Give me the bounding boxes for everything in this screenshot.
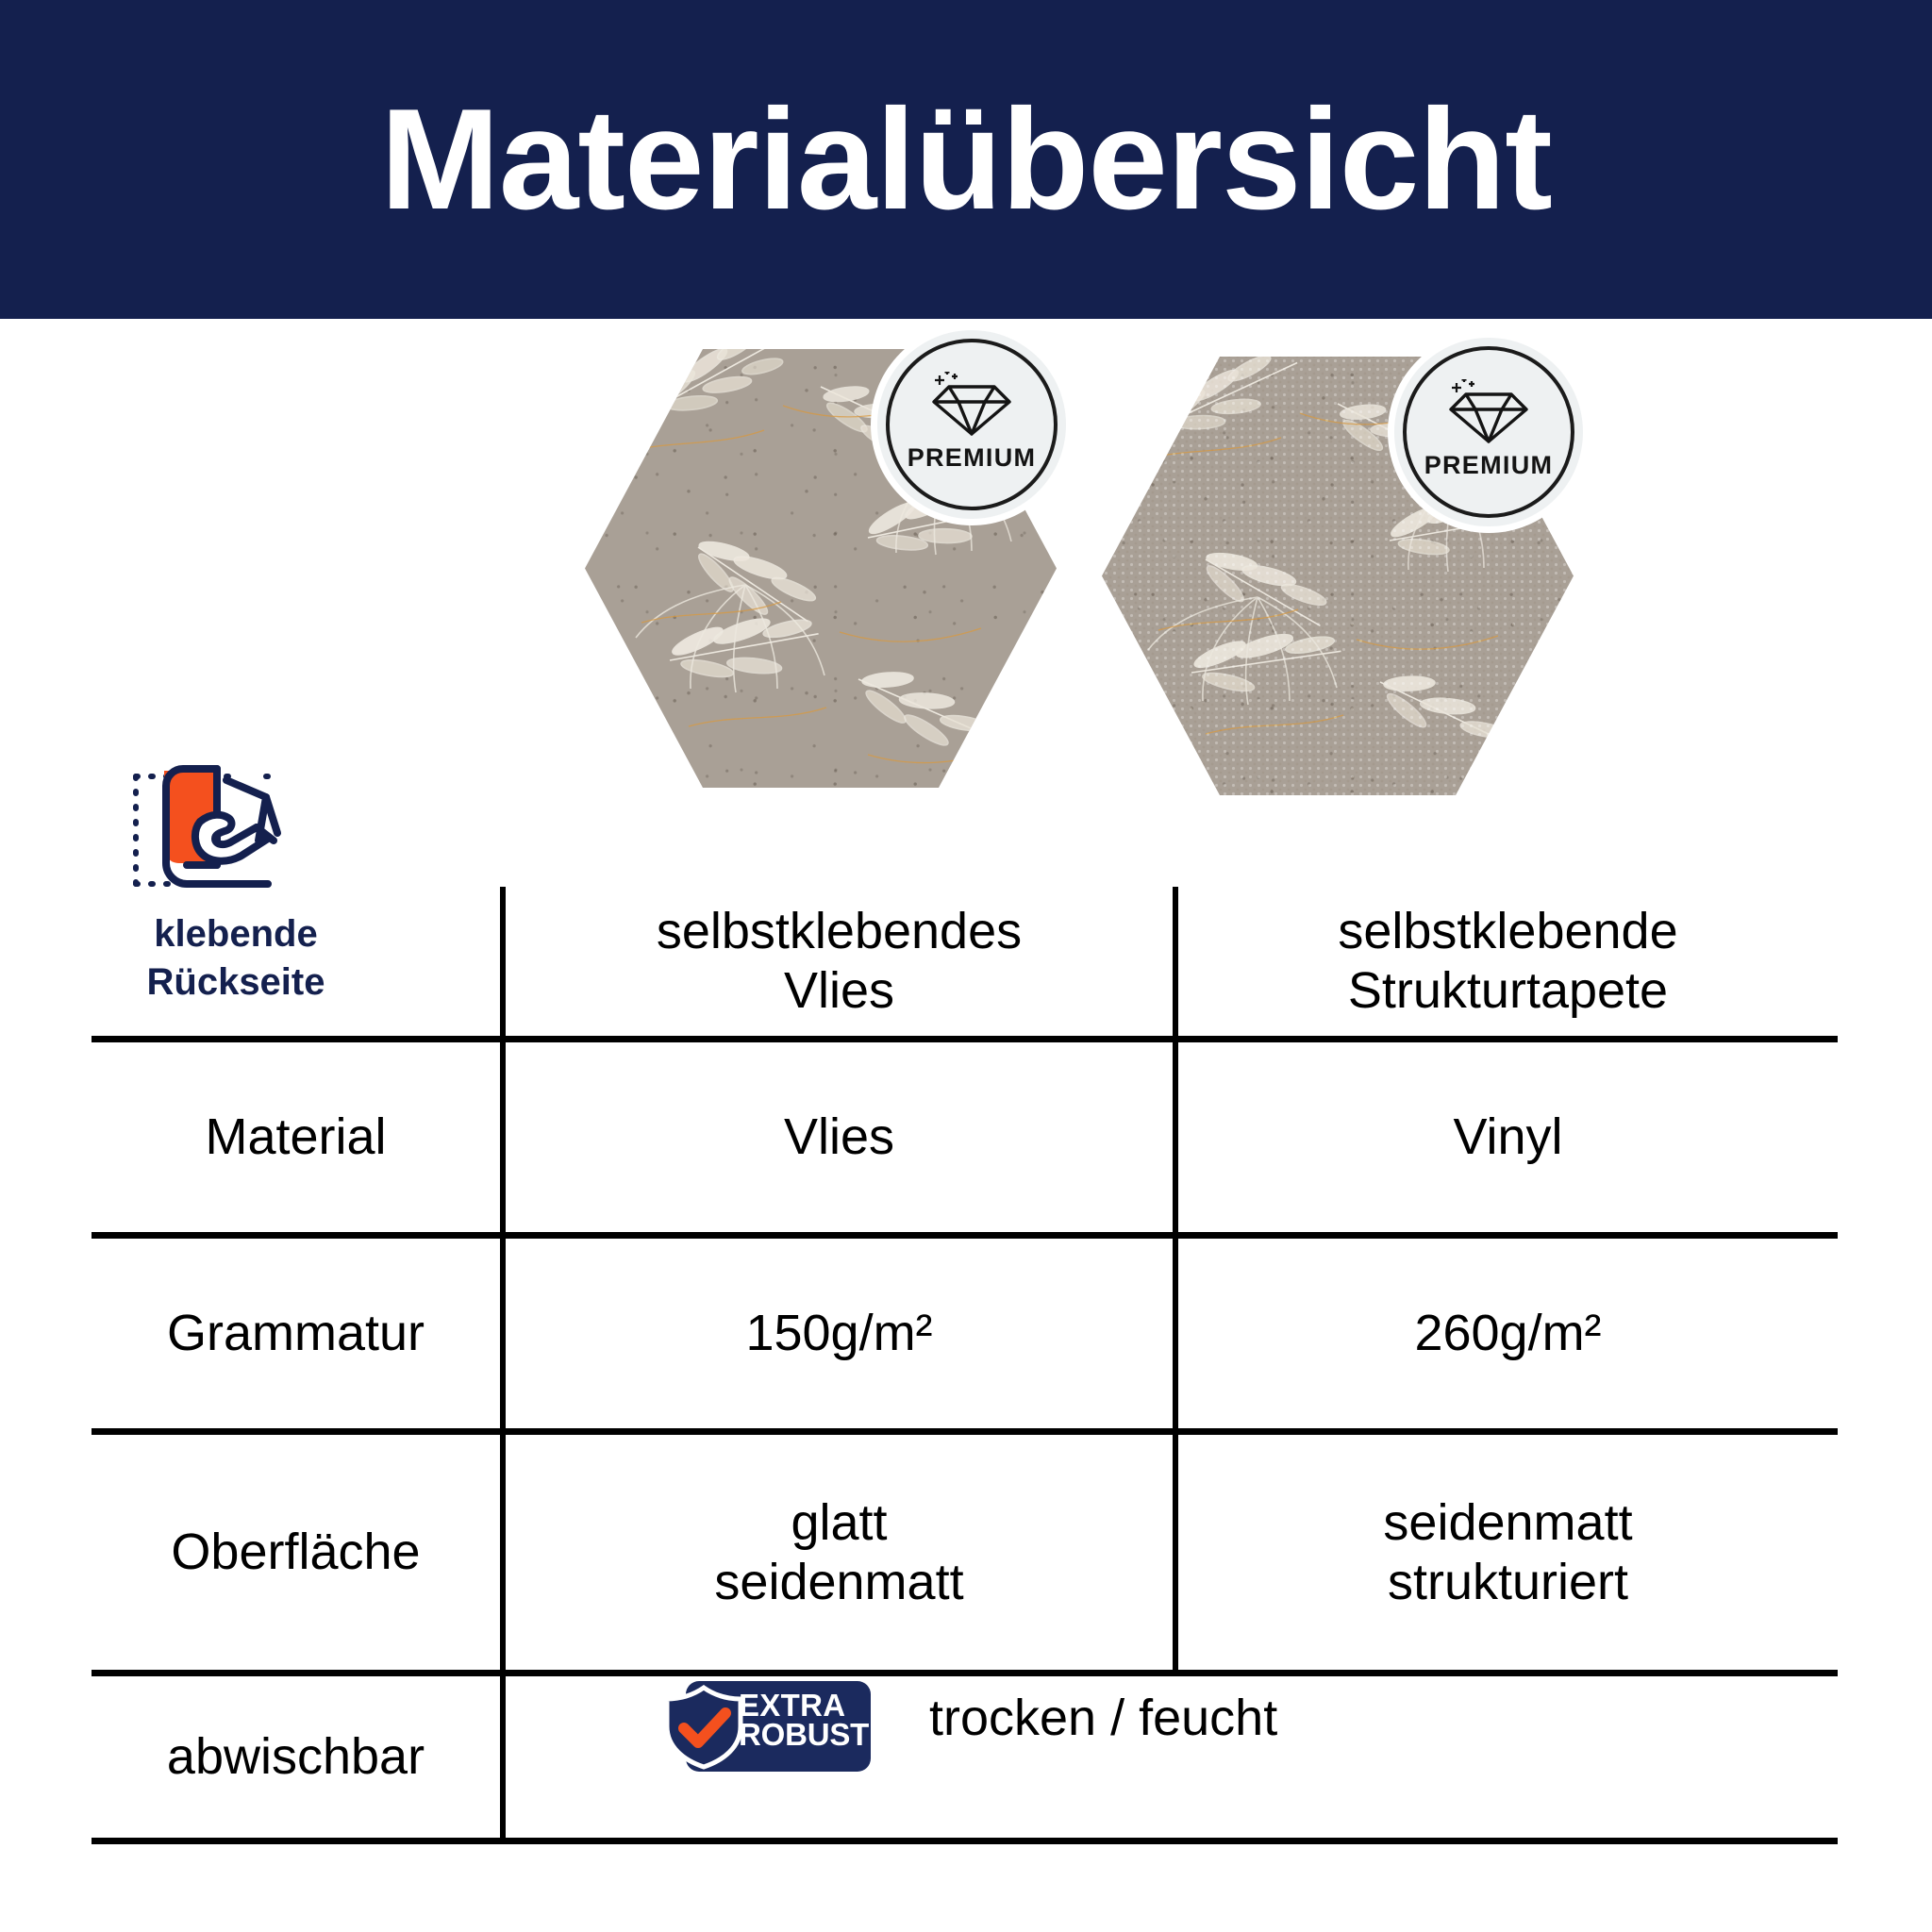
- header-struktur-line1: selbstklebende: [1338, 903, 1677, 959]
- table-cell-material-vlies: Vlies: [506, 1042, 1173, 1232]
- header-struktur-line2: Strukturtapete: [1348, 962, 1668, 1019]
- table-row-label-material: Material: [92, 1042, 500, 1232]
- peel-sticker-hand-icon: [125, 759, 341, 901]
- premium-badge-label: PREMIUM: [1424, 451, 1554, 480]
- premium-badge: PREMIUM: [1394, 338, 1583, 526]
- table-cell-abwischbar-value: trocken / feucht: [929, 1689, 1277, 1747]
- extra-robust-line2: ROBUST: [739, 1720, 867, 1749]
- shield-check-icon: [658, 1685, 750, 1770]
- extra-robust-text: EXTRA ROBUST: [739, 1690, 867, 1750]
- diamond-icon: [1445, 379, 1532, 447]
- table-header-cell-strukturtapete: selbstklebende Strukturtapete: [1178, 887, 1838, 1036]
- table-rule-2: [92, 1232, 1838, 1239]
- sticky-back-label-line1: klebende: [154, 913, 317, 955]
- table-cell-material-struktur: Vinyl: [1178, 1042, 1838, 1232]
- table-cell-oberflaeche-vlies: glatt seidenmatt: [506, 1435, 1173, 1670]
- swatch-strukturtapete: PREMIUM: [1102, 357, 1574, 795]
- premium-badge: PREMIUM: [877, 330, 1066, 519]
- header-vlies-line2: Vlies: [784, 962, 894, 1019]
- sticky-back-label-line2: Rückseite: [147, 961, 325, 1003]
- table-rule-bottom: [92, 1838, 1838, 1844]
- oberflaeche-struktur-line1: seidenmatt: [1383, 1494, 1632, 1551]
- table-row-label-grammatur: Grammatur: [92, 1239, 500, 1428]
- oberflaeche-vlies-line1: glatt: [791, 1494, 887, 1551]
- extra-robust-badge: EXTRA ROBUST: [658, 1681, 871, 1772]
- table-rule-4: [92, 1670, 1838, 1676]
- sticky-back-label: klebende Rückseite: [66, 910, 406, 1007]
- diamond-icon: [928, 372, 1015, 440]
- table-row-label-abwischbar: abwischbar: [92, 1676, 500, 1838]
- premium-badge-label: PREMIUM: [908, 443, 1037, 473]
- oberflaeche-struktur-line2: strukturiert: [1388, 1554, 1628, 1610]
- table-row-label-oberflaeche: Oberfläche: [92, 1435, 500, 1670]
- table-cell-grammatur-vlies: 150g/m²: [506, 1239, 1173, 1428]
- table-cell-grammatur-struktur: 260g/m²: [1178, 1239, 1838, 1428]
- swatch-vlies: PREMIUM: [585, 349, 1057, 788]
- table-rule-1: [92, 1036, 1838, 1042]
- table-header-cell-vlies: selbstklebendes Vlies: [506, 887, 1173, 1036]
- table-cell-oberflaeche-struktur: seidenmatt strukturiert: [1178, 1435, 1838, 1670]
- table-rule-3: [92, 1428, 1838, 1435]
- page-title: Materialübersicht: [380, 88, 1552, 231]
- oberflaeche-vlies-line2: seidenmatt: [714, 1554, 963, 1610]
- page-header: Materialübersicht: [0, 0, 1932, 319]
- header-vlies-line1: selbstklebendes: [657, 903, 1022, 959]
- extra-robust-line1: EXTRA: [739, 1690, 867, 1720]
